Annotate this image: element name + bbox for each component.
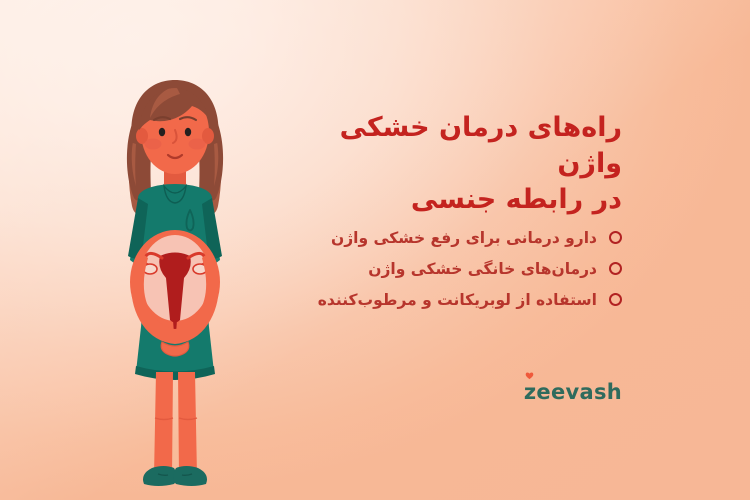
shoe-right (173, 466, 207, 486)
bullet-list: دارو درمانی برای رفع خشکی واژن درمان‌های… (270, 222, 622, 315)
brand-logo: zeevash (524, 382, 622, 403)
list-item: استفاده از لوبریکانت و مرطوب‌کننده (270, 284, 622, 315)
poster-canvas: راه‌های درمان خشکی واژن در رابطه جنسی دا… (0, 0, 750, 500)
bullet-ring-icon (609, 262, 622, 275)
list-item-label: دارو درمانی برای رفع خشکی واژن (331, 228, 597, 248)
eye-right (185, 128, 191, 137)
leg-right (178, 372, 197, 482)
blush-right (189, 139, 206, 150)
shoe-left (143, 466, 177, 486)
bullet-ring-icon (609, 293, 622, 306)
blush-left (145, 139, 162, 150)
list-item-label: درمان‌های خانگی خشکی واژن (368, 259, 597, 279)
text-content-column: راه‌های درمان خشکی واژن در رابطه جنسی دا… (270, 0, 740, 500)
eye-left (159, 128, 165, 137)
list-item: دارو درمانی برای رفع خشکی واژن (270, 222, 622, 253)
brand-logo-text: zeevash (524, 382, 622, 403)
page-title: راه‌های درمان خشکی واژن در رابطه جنسی (270, 110, 622, 218)
bullet-ring-icon (609, 231, 622, 244)
illustration-woman-holding-uterus (80, 70, 270, 490)
heart-icon (525, 371, 534, 380)
list-item-label: استفاده از لوبریکانت و مرطوب‌کننده (318, 290, 597, 310)
leg-left (154, 372, 173, 482)
list-item: درمان‌های خانگی خشکی واژن (270, 253, 622, 284)
